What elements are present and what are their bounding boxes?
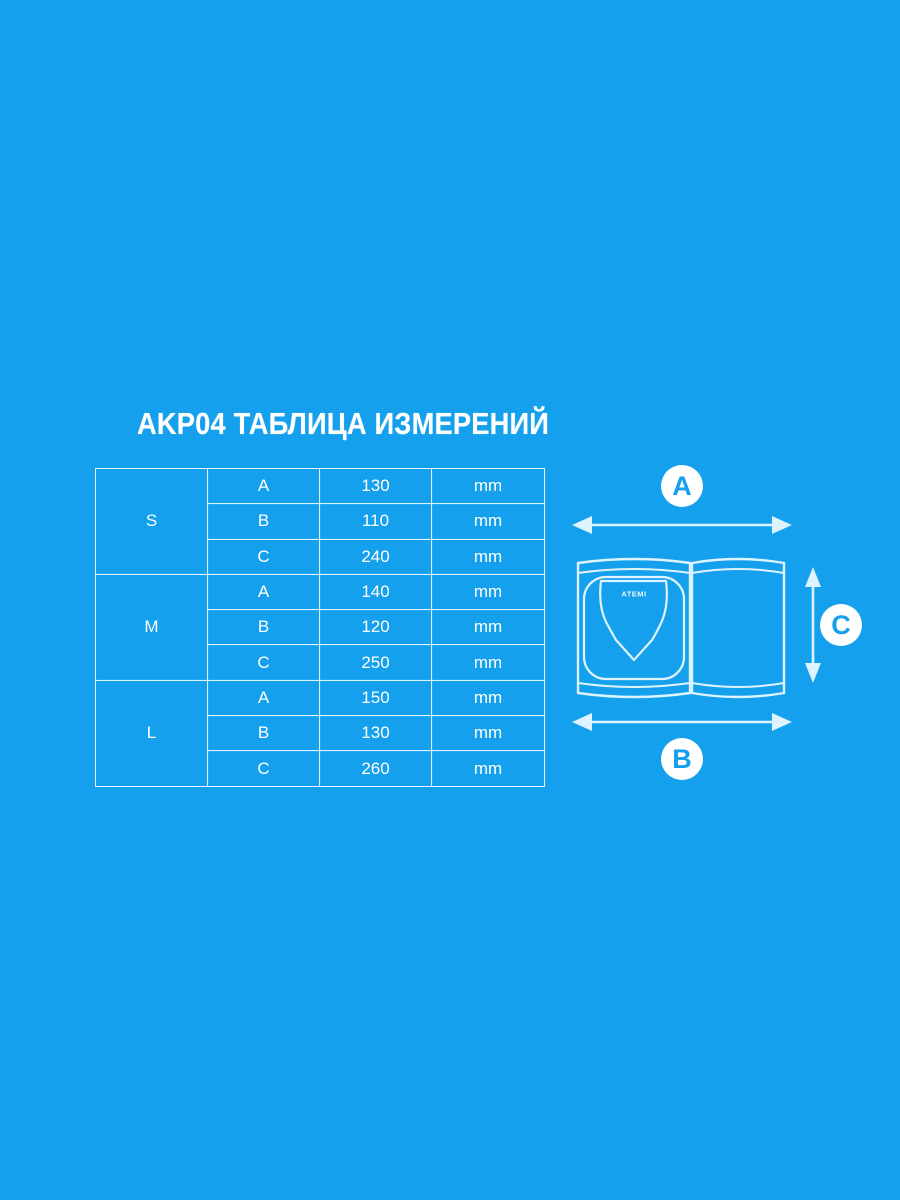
product-size-chart-canvas: AKP04 ТАБЛИЦА ИЗМЕРЕНИЙ S A 130 mm B 110…	[0, 0, 900, 1200]
dimension-label: C	[208, 751, 320, 786]
dimension-value: 130	[320, 716, 432, 751]
table-row: S A 130 mm	[96, 469, 545, 504]
dimension-label: C	[208, 645, 320, 680]
width-bottom-arrow	[572, 713, 792, 731]
dimension-label: B	[208, 610, 320, 645]
pad-back-sleeve-outline	[692, 559, 784, 697]
badge-a: A	[661, 465, 703, 507]
dimension-unit: mm	[432, 469, 545, 504]
dimension-label: A	[208, 680, 320, 715]
pad-back-top-hem	[692, 569, 784, 573]
dimension-unit: mm	[432, 751, 545, 786]
dimension-value: 130	[320, 469, 432, 504]
pad-bottom-hem	[578, 683, 690, 687]
measurements-table-body: S A 130 mm B 110 mm C 240 mm M A 140 mm	[96, 469, 545, 787]
dimension-unit: mm	[432, 680, 545, 715]
dimension-unit: mm	[432, 504, 545, 539]
badge-b-label: B	[672, 744, 692, 774]
table-row: L A 150 mm	[96, 680, 545, 715]
dimension-unit: mm	[432, 539, 545, 574]
dimension-label: A	[208, 574, 320, 609]
dimension-label: C	[208, 539, 320, 574]
table-row: M A 140 mm	[96, 574, 545, 609]
brand-logo-text: ATEMI	[621, 590, 646, 599]
size-label-m: M	[96, 574, 208, 680]
badge-a-label: A	[672, 471, 692, 501]
pad-top-hem	[578, 569, 690, 573]
dimension-unit: mm	[432, 645, 545, 680]
knee-pad-dimension-diagram: A ATEMI	[560, 455, 880, 785]
width-top-arrow	[572, 516, 792, 534]
dimension-unit: mm	[432, 610, 545, 645]
measurements-table: S A 130 mm B 110 mm C 240 mm M A 140 mm	[95, 468, 545, 787]
page-title: AKP04 ТАБЛИЦА ИЗМЕРЕНИЙ	[137, 406, 549, 442]
dimension-label: A	[208, 469, 320, 504]
pad-back-bottom-hem	[692, 683, 784, 687]
badge-c-label: C	[831, 610, 851, 640]
knee-pad-back-view	[692, 559, 784, 697]
dimension-value: 240	[320, 539, 432, 574]
knee-pad-front-view: ATEMI	[578, 559, 690, 697]
size-label-s: S	[96, 469, 208, 575]
dimension-value: 110	[320, 504, 432, 539]
height-arrow	[805, 567, 821, 683]
dimension-value: 260	[320, 751, 432, 786]
dimension-value: 150	[320, 680, 432, 715]
size-label-l: L	[96, 680, 208, 786]
dimension-value: 250	[320, 645, 432, 680]
dimension-value: 140	[320, 574, 432, 609]
dimension-label: B	[208, 716, 320, 751]
dimension-unit: mm	[432, 574, 545, 609]
dimension-label: B	[208, 504, 320, 539]
badge-b: B	[661, 738, 703, 780]
dimension-value: 120	[320, 610, 432, 645]
badge-c: C	[820, 604, 862, 646]
dimension-unit: mm	[432, 716, 545, 751]
